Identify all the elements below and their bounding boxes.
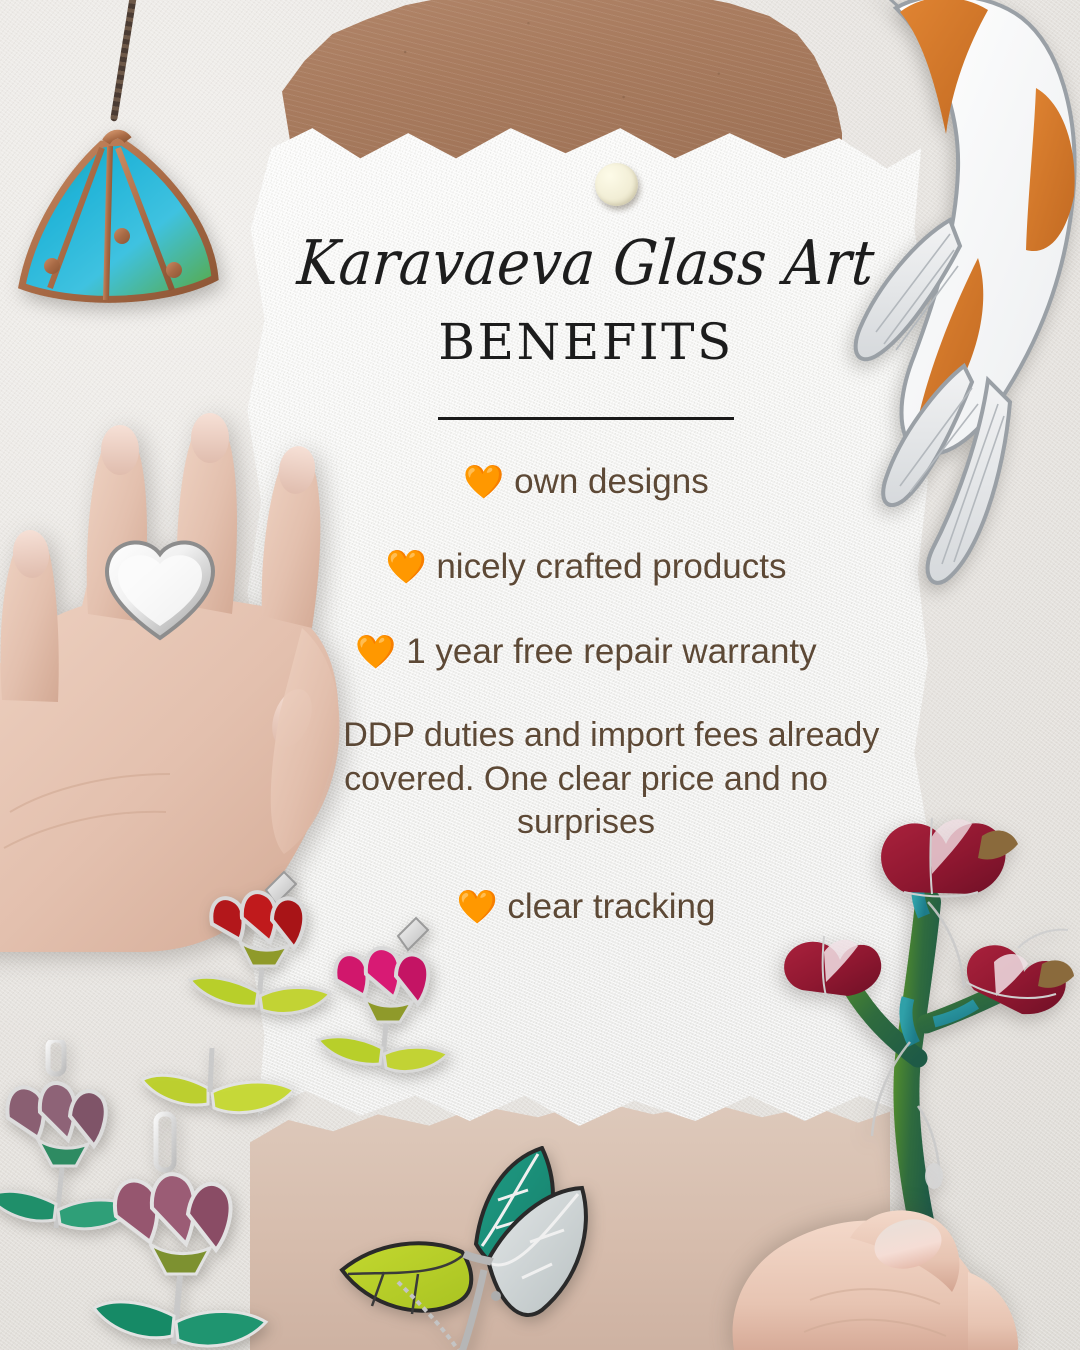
tulip-earrings-purple-icon — [0, 1040, 292, 1350]
divider-rule — [438, 417, 734, 420]
poster-canvas: Karavaeva Glass Art BENEFITS 🧡 own desig… — [0, 0, 1080, 1350]
list-item-label: 1 year free repair warranty — [406, 632, 816, 671]
ginkgo-pendant-icon — [10, 118, 268, 308]
round-pin-icon — [595, 163, 638, 206]
glass-flower-branch-icon — [782, 806, 1080, 1236]
hand-holding-branch-image — [700, 1180, 1080, 1350]
orange-heart-icon: 🧡 — [386, 548, 427, 585]
koi-fish-icon — [838, 0, 1080, 604]
orange-heart-icon: 🧡 — [463, 463, 504, 500]
list-item-label: own designs — [514, 462, 709, 501]
leaves-suncatcher-icon — [306, 1146, 666, 1350]
list-item-label: clear tracking — [507, 887, 715, 926]
list-item-label: nicely crafted products — [436, 547, 786, 586]
page-title: BENEFITS — [244, 313, 928, 371]
brand-title: Karavaeva Glass Art — [242, 233, 931, 295]
